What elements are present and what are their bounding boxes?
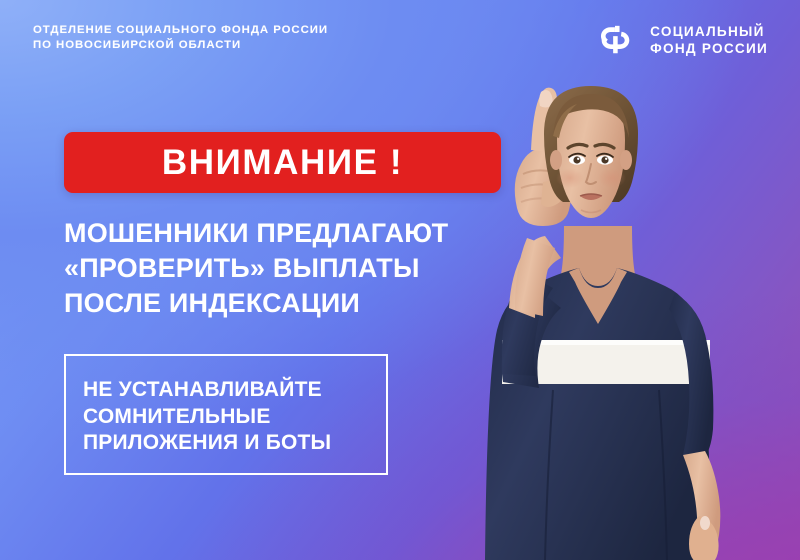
- poster-canvas: ОТДЕЛЕНИЕ СОЦИАЛЬНОГО ФОНДА РОССИИ ПО НО…: [0, 0, 800, 560]
- attention-banner: ВНИМАНИЕ !: [64, 132, 501, 193]
- headline-text: МОШЕННИКИ ПРЕДЛАГАЮТ «ПРОВЕРИТЬ» ВЫПЛАТЫ…: [64, 216, 514, 321]
- attention-banner-label: ВНИМАНИЕ !: [162, 145, 403, 180]
- organization-name: ОТДЕЛЕНИЕ СОЦИАЛЬНОГО ФОНДА РОССИИ ПО НО…: [33, 23, 328, 52]
- advice-box: НЕ УСТАНАВЛИВАЙТЕ СОМНИТЕЛЬНЫЕ ПРИЛОЖЕНИ…: [64, 354, 388, 475]
- brand-lockup: СОЦИАЛЬНЫЙ ФОНД РОССИИ: [593, 18, 768, 62]
- sfr-monogram-icon: [593, 18, 637, 62]
- poster-header: ОТДЕЛЕНИЕ СОЦИАЛЬНОГО ФОНДА РОССИИ ПО НО…: [0, 0, 800, 84]
- advice-box-text: НЕ УСТАНАВЛИВАЙТЕ СОМНИТЕЛЬНЫЕ ПРИЛОЖЕНИ…: [83, 377, 331, 457]
- brand-name: СОЦИАЛЬНЫЙ ФОНД РОССИИ: [650, 23, 768, 58]
